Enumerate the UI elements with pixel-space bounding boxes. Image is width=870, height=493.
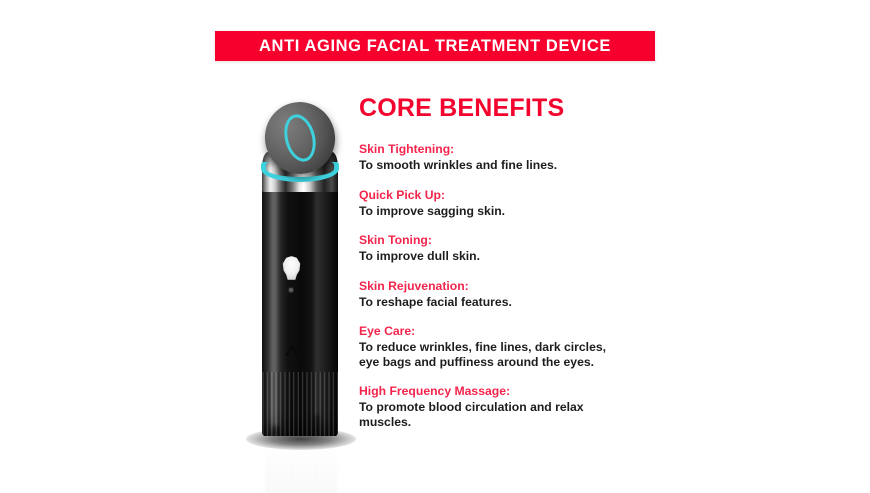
- device-body-striations: [262, 372, 338, 436]
- benefit-title: Skin Toning:: [359, 233, 649, 248]
- benefit-title: Eye Care:: [359, 324, 649, 339]
- benefit-item-skin-tightening: Skin Tightening: To smooth wrinkles and …: [359, 142, 649, 173]
- device-led-dot-icon: [289, 288, 293, 292]
- benefit-item-quick-pick-up: Quick Pick Up: To improve sagging skin.: [359, 188, 649, 219]
- benefit-item-skin-toning: Skin Toning: To improve dull skin.: [359, 233, 649, 264]
- benefit-item-skin-rejuvenation: Skin Rejuvenation: To reshape facial fea…: [359, 279, 649, 310]
- device-head-ring-icon: [280, 111, 321, 165]
- benefits-heading: CORE BENEFITS: [359, 96, 649, 121]
- benefit-description: To promote blood circulation and relax m…: [359, 400, 617, 429]
- benefit-description: To smooth wrinkles and fine lines.: [359, 158, 617, 173]
- benefit-title: Skin Tightening:: [359, 142, 649, 157]
- product-infographic: ANTI AGING FACIAL TREATMENT DEVICE CORE …: [0, 0, 870, 493]
- device-illustration: [236, 96, 366, 486]
- benefit-description: To reduce wrinkles, fine lines, dark cir…: [359, 340, 617, 369]
- benefit-description: To improve dull skin.: [359, 249, 617, 264]
- benefit-description: To improve sagging skin.: [359, 204, 617, 219]
- benefit-title: Skin Rejuvenation:: [359, 279, 649, 294]
- device-body: [262, 180, 338, 436]
- benefit-item-high-frequency-massage: High Frequency Massage: To promote blood…: [359, 384, 649, 429]
- benefit-title: Quick Pick Up:: [359, 188, 649, 203]
- benefits-section: CORE BENEFITS Skin Tightening: To smooth…: [359, 96, 649, 429]
- benefit-description: To reshape facial features.: [359, 295, 617, 310]
- benefit-title: High Frequency Massage:: [359, 384, 649, 399]
- page-title: ANTI AGING FACIAL TREATMENT DEVICE: [259, 38, 611, 55]
- title-banner: ANTI AGING FACIAL TREATMENT DEVICE: [215, 31, 655, 61]
- benefit-item-eye-care: Eye Care: To reduce wrinkles, fine lines…: [359, 324, 649, 369]
